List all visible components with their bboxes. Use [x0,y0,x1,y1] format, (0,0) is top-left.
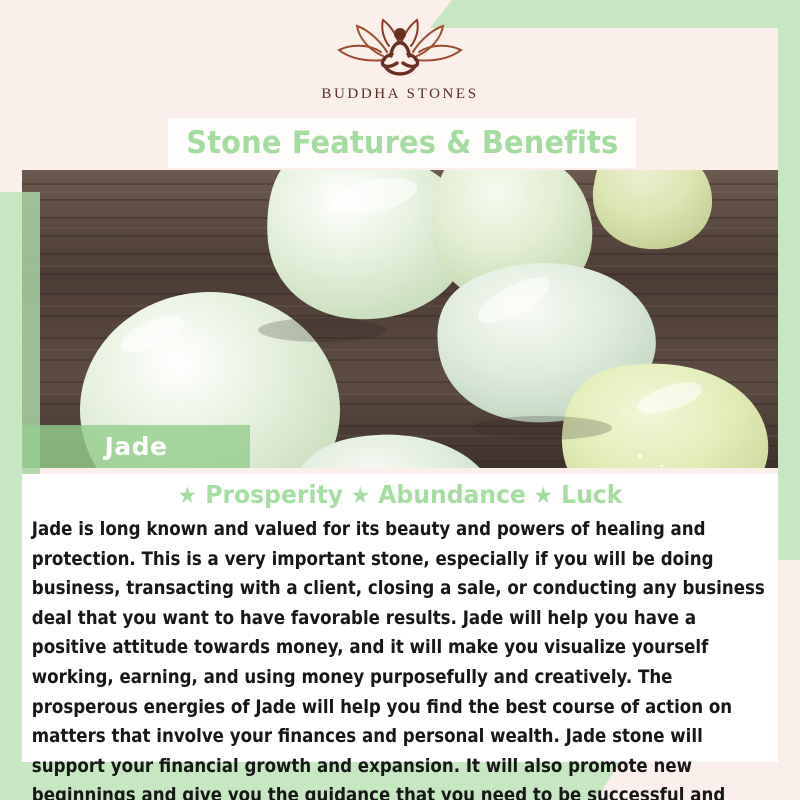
star-icon: ★ [534,483,553,509]
star-icon: ★ [351,483,370,509]
benefit-label: Abundance [378,480,526,509]
decor-left-green-strip [0,192,22,800]
stone-name: Jade [104,432,167,461]
stone-description: Jade is long known and valued for its be… [30,515,772,800]
benefit-label: Prosperity [205,480,343,509]
content-card: ★ Prosperity★ Abundance★ Luck Jade is lo… [22,474,778,762]
jade-stones-illustration [22,170,778,468]
page-title: Stone Features & Benefits [186,125,618,161]
benefits-row: ★ Prosperity★ Abundance★ Luck [52,478,748,513]
stone-photo [22,170,778,468]
benefit-item-abundance: ★ Abundance [351,480,526,509]
benefit-item-prosperity: ★ Prosperity [178,480,343,509]
benefit-item-luck: ★ Luck [534,480,623,509]
stone-name-banner: Jade [22,425,250,468]
brand-name: BUDDHA STONES [321,86,478,103]
infographic-page: BUDDHA STONES Stone Features & Benefits [0,0,800,800]
title-banner: Stone Features & Benefits [168,118,636,168]
benefit-label: Luck [561,480,622,509]
brand-header: BUDDHA STONES [0,0,800,118]
star-icon: ★ [178,483,197,509]
lotus-meditation-icon [325,16,475,82]
